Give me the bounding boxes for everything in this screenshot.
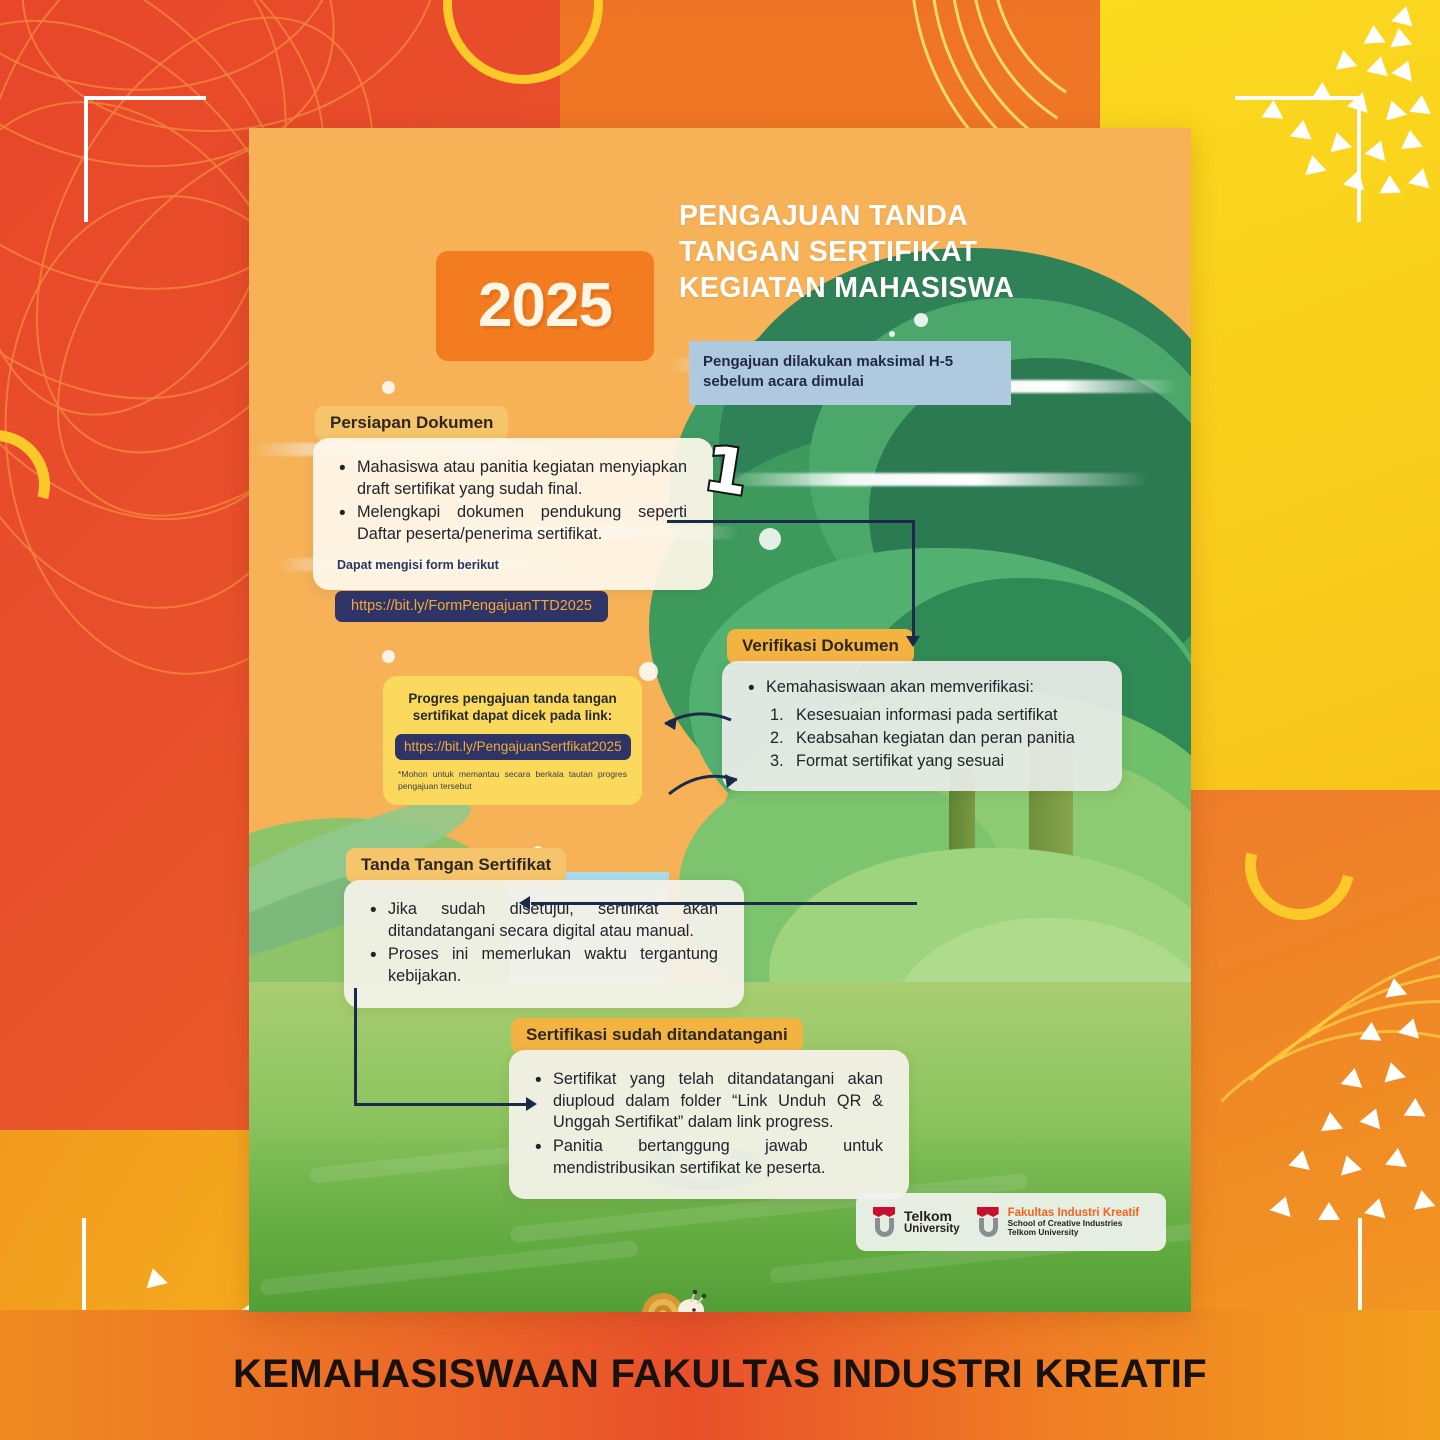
bullet-list-sertifikasi: Sertifikat yang telah ditandatangani aka…	[533, 1069, 883, 1179]
progress-box-text: Progres pengajuan tanda tangan sertifika…	[395, 690, 630, 725]
connector-3-to-4	[354, 988, 544, 1108]
fik-logo-text: Fakultas Industri Kreatif School of Crea…	[1008, 1207, 1140, 1238]
list-item: Kemahasiswaan akan memverifikasi:	[746, 677, 1096, 699]
section-card-verifikasi-dokumen: Kemahasiswaan akan memverifikasi: Kesesu…	[722, 661, 1122, 791]
form-link-pill[interactable]: https://bit.ly/FormPengajuanTTD2025	[335, 591, 608, 622]
poster-content: 2025 PENGAJUAN TANDA TANGAN SERTIFIKAT K…	[249, 128, 1191, 1312]
fik-logo-icon	[976, 1207, 1002, 1237]
section-card-persiapan-dokumen: Mahasiswa atau panitia kegiatan menyiapk…	[313, 438, 713, 590]
bullet-list-persiapan: Mahasiswa atau panitia kegiatan menyiapk…	[337, 457, 687, 546]
list-item: Proses ini memerlukan waktu tergantung k…	[368, 944, 718, 987]
form-note: Dapat mengisi form berikut	[337, 558, 687, 572]
deadline-note: Pengajuan dilakukan maksimal H-5 sebelum…	[689, 341, 1011, 405]
progress-tracking-box: Progres pengajuan tanda tangan sertifika…	[383, 676, 642, 805]
fik-title: Fakultas Industri Kreatif	[1008, 1207, 1140, 1219]
progress-link-pill[interactable]: https://bit.ly/PengajuanSertfikat2025	[395, 734, 631, 760]
progress-box-footnote: *Mohon untuk memantau secara berkala tau…	[395, 768, 630, 793]
bottom-banner-title: KEMAHASISWAAN FAKULTAS INDUSTRI KREATIF	[0, 1352, 1440, 1397]
connector-2-to-3	[517, 898, 917, 910]
list-item: Panitia bertanggung jawab untuk mendistr…	[533, 1136, 883, 1179]
step-number-badge-1: 1	[700, 437, 752, 505]
telkom-label: Telkom	[904, 1208, 952, 1224]
list-item: Sertifikat yang telah ditandatangani aka…	[533, 1069, 883, 1134]
section-heading-tanda-tangan-sertifikat: Tanda Tangan Sertifikat	[346, 848, 566, 883]
page-title: PENGAJUAN TANDA TANGAN SERTIFIKAT KEGIAT…	[679, 198, 1039, 307]
connector-1-to-2	[667, 520, 917, 650]
year-badge-label: 2025	[478, 275, 612, 337]
section-heading-persiapan-dokumen: Persiapan Dokumen	[315, 406, 508, 441]
university-label: University	[904, 1223, 960, 1235]
bullet-list-verifikasi: Kemahasiswaan akan memverifikasi:	[746, 677, 1096, 699]
list-item: Kesesuaian informasi pada sertifikat	[770, 704, 1096, 726]
numbered-list-verifikasi: Kesesuaian informasi pada sertifikat Kea…	[770, 704, 1096, 772]
curved-arrows	[645, 698, 745, 808]
telkom-university-logo-icon	[872, 1207, 898, 1237]
section-heading-sertifikasi-sudah-ditandatangani: Sertifikasi sudah ditandatangani	[511, 1018, 803, 1053]
telkom-university-logo-text: Telkom University	[904, 1209, 960, 1236]
fik-org: Telkom University	[1008, 1228, 1140, 1237]
section-card-sertifikasi-sudah-ditandatangani: Sertifikat yang telah ditandatangani aka…	[509, 1050, 909, 1199]
corner-bracket-top-right	[1235, 96, 1361, 222]
list-item: Mahasiswa atau panitia kegiatan menyiapk…	[337, 457, 687, 500]
bullet-list-tanda-tangan: Jika sudah disetujui, sertifikat akan di…	[368, 899, 718, 988]
list-item: Melengkapi dokumen pendukung seperti Daf…	[337, 502, 687, 545]
corner-bracket-top-left	[84, 96, 206, 222]
list-item: Keabsahan kegiatan dan peran panitia	[770, 727, 1096, 749]
list-item: Format sertifikat yang sesuai	[770, 750, 1096, 772]
logo-bar: Telkom University Fakultas Industri Krea…	[856, 1193, 1166, 1251]
year-badge: 2025	[436, 251, 654, 361]
infographic-poster: 2025 PENGAJUAN TANDA TANGAN SERTIFIKAT K…	[249, 128, 1191, 1312]
